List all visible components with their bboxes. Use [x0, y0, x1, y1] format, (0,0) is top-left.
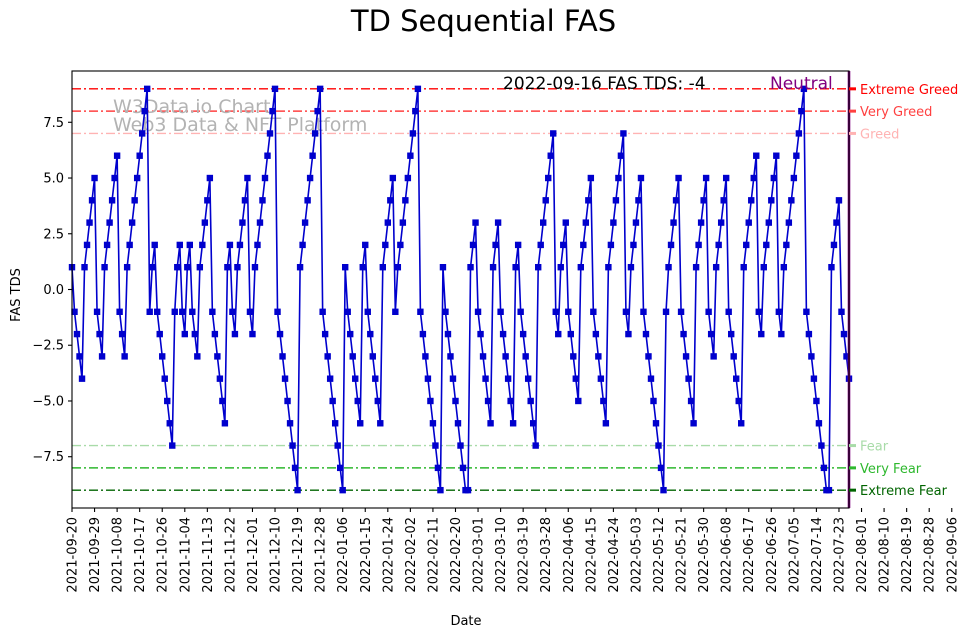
- data-point-marker: [555, 331, 561, 337]
- data-point-marker: [502, 353, 508, 359]
- data-point-marker: [134, 175, 140, 181]
- data-point-marker: [565, 309, 571, 315]
- data-point-marker: [407, 153, 413, 159]
- data-point-marker: [164, 398, 170, 404]
- data-point-marker: [324, 353, 330, 359]
- data-point-marker: [377, 420, 383, 426]
- data-point-marker: [522, 353, 528, 359]
- data-point-marker: [548, 153, 554, 159]
- data-point-marker: [705, 309, 711, 315]
- data-point-marker: [249, 331, 255, 337]
- x-tick-label: 2021-10-08: [111, 517, 126, 593]
- data-point-marker: [748, 197, 754, 203]
- data-point-marker: [603, 420, 609, 426]
- data-point-marker: [791, 175, 797, 181]
- x-tick-label: 2022-02-02: [404, 517, 419, 593]
- data-point-marker: [781, 264, 787, 270]
- data-point-marker: [99, 353, 105, 359]
- data-point-marker: [329, 398, 335, 404]
- data-point-marker: [788, 197, 794, 203]
- x-tick-label: 2021-11-04: [178, 517, 193, 593]
- data-point-marker: [162, 375, 168, 381]
- data-point-marker: [154, 309, 160, 315]
- data-point-marker: [111, 175, 117, 181]
- data-point-marker: [653, 420, 659, 426]
- data-point-marker: [695, 242, 701, 248]
- data-point-marker: [673, 197, 679, 203]
- data-point-marker: [583, 219, 589, 225]
- annotation-group: 2022-09-16 FAS TDS: -4Neutral: [503, 74, 833, 94]
- x-tick-label: 2022-03-10: [494, 517, 509, 593]
- data-point-marker: [157, 331, 163, 337]
- data-point-marker: [618, 153, 624, 159]
- data-point-marker: [700, 197, 706, 203]
- data-point-marker: [783, 242, 789, 248]
- data-point-marker: [219, 398, 225, 404]
- data-point-marker: [340, 487, 346, 493]
- data-point-marker: [312, 130, 318, 136]
- data-point-marker: [588, 175, 594, 181]
- data-point-marker: [119, 331, 125, 337]
- data-point-marker: [808, 353, 814, 359]
- data-point-marker: [743, 242, 749, 248]
- x-tick-label: 2022-08-28: [923, 517, 938, 593]
- data-point-marker: [578, 264, 584, 270]
- data-point-marker: [720, 197, 726, 203]
- data-point-marker: [475, 309, 481, 315]
- x-tick-label: 2022-04-06: [562, 517, 577, 593]
- data-point-marker: [545, 175, 551, 181]
- data-point-marker: [826, 487, 832, 493]
- data-point-marker: [121, 353, 127, 359]
- annotation-status: Neutral: [770, 74, 833, 94]
- data-point-marker: [836, 197, 842, 203]
- data-point-marker: [141, 108, 147, 114]
- data-point-marker: [417, 309, 423, 315]
- data-point-marker: [773, 153, 779, 159]
- data-point-marker: [828, 264, 834, 270]
- data-point-marker: [733, 375, 739, 381]
- data-point-marker: [535, 264, 541, 270]
- data-point-marker: [736, 398, 742, 404]
- data-point-marker: [640, 309, 646, 315]
- data-point-marker: [252, 264, 258, 270]
- x-tick-label: 2022-06-26: [765, 517, 780, 593]
- zone-label-very-greed: Very Greed: [860, 105, 932, 120]
- data-point-marker: [96, 331, 102, 337]
- data-point-marker: [81, 264, 87, 270]
- data-point-marker: [460, 465, 466, 471]
- data-point-marker: [648, 375, 654, 381]
- data-point-marker: [74, 331, 80, 337]
- zone-label-extreme-fear: Extreme Fear: [860, 484, 948, 499]
- data-point-marker: [467, 264, 473, 270]
- data-point-marker: [405, 175, 411, 181]
- data-point-marker: [445, 331, 451, 337]
- data-point-marker: [638, 175, 644, 181]
- data-point-marker: [382, 242, 388, 248]
- data-point-marker: [490, 264, 496, 270]
- data-point-marker: [317, 86, 323, 92]
- data-point-marker: [778, 331, 784, 337]
- data-point-marker: [655, 442, 661, 448]
- data-point-marker: [512, 264, 518, 270]
- chart-canvas: W3Data.io ChartWeb3 Data & NFT Platform …: [0, 0, 967, 633]
- data-point-marker: [222, 420, 228, 426]
- data-point-marker: [833, 219, 839, 225]
- data-point-marker: [232, 331, 238, 337]
- data-point-marker: [470, 242, 476, 248]
- data-point-marker: [244, 175, 250, 181]
- data-point-marker: [202, 219, 208, 225]
- x-tick-label: 2022-05-03: [629, 517, 644, 593]
- data-point-marker: [580, 242, 586, 248]
- data-point-marker: [703, 175, 709, 181]
- data-point-marker: [500, 331, 506, 337]
- data-point-marker: [553, 309, 559, 315]
- data-point-marker: [690, 420, 696, 426]
- data-point-marker: [450, 375, 456, 381]
- data-point-marker: [362, 242, 368, 248]
- data-point-marker: [182, 331, 188, 337]
- x-tick-label: 2022-04-24: [607, 517, 622, 593]
- data-point-marker: [167, 420, 173, 426]
- data-point-marker: [101, 264, 107, 270]
- data-point-marker: [152, 242, 158, 248]
- data-point-marker: [282, 375, 288, 381]
- data-point-marker: [447, 353, 453, 359]
- data-point-marker: [532, 442, 538, 448]
- data-point-marker: [144, 86, 150, 92]
- data-point-marker: [76, 353, 82, 359]
- data-point-marker: [332, 420, 338, 426]
- data-point-marker: [803, 309, 809, 315]
- data-point-marker: [189, 309, 195, 315]
- x-tick-label: 2021-11-13: [201, 517, 216, 593]
- data-point-marker: [771, 175, 777, 181]
- data-point-marker: [254, 242, 260, 248]
- data-point-marker: [633, 219, 639, 225]
- x-tick-label: 2021-09-29: [88, 517, 103, 593]
- data-point-marker: [477, 331, 483, 337]
- data-point-marker: [610, 219, 616, 225]
- data-point-marker: [605, 264, 611, 270]
- data-point-marker: [776, 309, 782, 315]
- data-point-marker: [525, 375, 531, 381]
- watermark-group: W3Data.io ChartWeb3 Data & NFT Platform: [113, 96, 367, 136]
- data-point-marker: [131, 197, 137, 203]
- data-point-marker: [214, 353, 220, 359]
- data-point-marker: [302, 219, 308, 225]
- data-point-marker: [806, 331, 812, 337]
- data-point-marker: [492, 242, 498, 248]
- data-point-marker: [623, 309, 629, 315]
- data-point-marker: [209, 309, 215, 315]
- series-line-fas-tds: [72, 89, 849, 490]
- data-point-marker: [540, 219, 546, 225]
- data-point-marker: [573, 375, 579, 381]
- x-tick-label: 2022-02-11: [426, 517, 441, 593]
- x-tick-label: 2022-07-14: [810, 517, 825, 593]
- data-point-marker: [725, 309, 731, 315]
- data-point-marker: [570, 353, 576, 359]
- data-point-marker: [410, 130, 416, 136]
- data-point-marker: [149, 264, 155, 270]
- data-point-marker: [397, 242, 403, 248]
- data-point-marker: [126, 242, 132, 248]
- x-tick-label: 2022-03-19: [517, 517, 532, 593]
- data-point-marker: [527, 398, 533, 404]
- data-point-marker: [665, 264, 671, 270]
- data-point-marker: [274, 309, 280, 315]
- data-point-marker: [595, 353, 601, 359]
- data-point-marker: [485, 398, 491, 404]
- x-tick-label: 2022-02-20: [449, 517, 464, 593]
- data-point-marker: [455, 420, 461, 426]
- data-point-marker: [457, 442, 463, 448]
- data-point-marker: [139, 130, 145, 136]
- x-tick-label: 2022-01-15: [359, 517, 374, 593]
- data-point-marker: [538, 242, 544, 248]
- data-point-marker: [625, 331, 631, 337]
- data-point-marker: [472, 219, 478, 225]
- data-point-marker: [693, 264, 699, 270]
- data-point-marker: [262, 175, 268, 181]
- x-axis-title: Date: [450, 614, 481, 629]
- data-point-marker: [593, 331, 599, 337]
- data-point-marker: [645, 353, 651, 359]
- data-point-marker: [179, 309, 185, 315]
- y-tick-label: −2.5: [32, 339, 64, 354]
- x-tick-label: 2021-12-19: [291, 517, 306, 593]
- data-point-marker: [334, 442, 340, 448]
- data-point-marker: [480, 353, 486, 359]
- data-point-marker: [395, 264, 401, 270]
- x-tick-label: 2022-01-24: [381, 517, 396, 593]
- data-point-marker: [786, 219, 792, 225]
- data-point-marker: [753, 153, 759, 159]
- data-point-marker: [756, 309, 762, 315]
- data-point-marker: [838, 309, 844, 315]
- data-point-marker: [678, 309, 684, 315]
- x-tick-label: 2022-08-10: [878, 517, 893, 593]
- data-point-marker: [568, 331, 574, 337]
- zone-label-fear: Fear: [860, 440, 889, 455]
- data-point-marker: [766, 219, 772, 225]
- y-tick-label: −7.5: [32, 450, 64, 465]
- data-point-marker: [821, 465, 827, 471]
- x-tick-label: 2022-05-21: [675, 517, 690, 593]
- data-point-marker: [357, 420, 363, 426]
- zone-label-extreme-greed: Extreme Greed: [860, 83, 958, 98]
- data-point-marker: [239, 219, 245, 225]
- zone-label-very-fear: Very Fear: [860, 462, 922, 477]
- data-point-marker: [635, 197, 641, 203]
- data-point-marker: [510, 420, 516, 426]
- data-point-marker: [650, 398, 656, 404]
- data-point-marker: [207, 175, 213, 181]
- data-point-marker: [793, 153, 799, 159]
- data-point-marker: [390, 175, 396, 181]
- threshold-lines-group: [72, 89, 849, 490]
- data-point-marker: [365, 309, 371, 315]
- data-point-marker: [86, 219, 92, 225]
- data-point-marker: [136, 153, 142, 159]
- data-point-marker: [715, 242, 721, 248]
- x-tick-label: 2022-05-30: [697, 517, 712, 593]
- data-point-marker: [680, 331, 686, 337]
- data-point-marker: [675, 175, 681, 181]
- data-point-marker: [259, 197, 265, 203]
- data-point-marker: [685, 375, 691, 381]
- data-point-marker: [234, 264, 240, 270]
- data-point-marker: [731, 353, 737, 359]
- y-axis-title: FAS TDS: [9, 268, 24, 322]
- data-point-marker: [247, 309, 253, 315]
- data-point-marker: [387, 197, 393, 203]
- data-point-marker: [267, 130, 273, 136]
- data-point-marker: [304, 197, 310, 203]
- data-point-marker: [482, 375, 488, 381]
- data-point-marker: [109, 197, 115, 203]
- data-point-marker: [172, 309, 178, 315]
- data-point-marker: [124, 264, 130, 270]
- data-point-marker: [590, 309, 596, 315]
- data-point-marker: [517, 309, 523, 315]
- data-point-marker: [710, 353, 716, 359]
- data-point-marker: [615, 175, 621, 181]
- data-point-marker: [337, 465, 343, 471]
- data-point-marker: [630, 242, 636, 248]
- data-point-marker: [292, 465, 298, 471]
- data-point-marker: [746, 219, 752, 225]
- y-tick-label: 0.0: [43, 283, 64, 298]
- data-point-marker: [237, 242, 243, 248]
- data-point-marker: [560, 242, 566, 248]
- data-point-marker: [229, 309, 235, 315]
- data-point-marker: [515, 242, 521, 248]
- data-point-marker: [174, 264, 180, 270]
- y-tick-label: 5.0: [43, 172, 64, 187]
- data-point-marker: [816, 420, 822, 426]
- data-point-marker: [585, 197, 591, 203]
- data-point-marker: [713, 264, 719, 270]
- data-point-marker: [763, 242, 769, 248]
- data-point-marker: [738, 420, 744, 426]
- x-tick-label: 2022-04-15: [584, 517, 599, 593]
- data-point-marker: [159, 353, 165, 359]
- data-point-marker: [598, 375, 604, 381]
- data-point-marker: [708, 331, 714, 337]
- data-point-marker: [758, 331, 764, 337]
- data-point-marker: [831, 242, 837, 248]
- data-point-marker: [435, 465, 441, 471]
- data-point-marker: [106, 219, 112, 225]
- data-point-marker: [658, 465, 664, 471]
- x-tick-label: 2022-09-06: [945, 517, 960, 593]
- data-point-marker: [813, 398, 819, 404]
- data-point-marker: [442, 309, 448, 315]
- zone-labels: Extreme GreedVery GreedGreedFearVery Fea…: [849, 83, 958, 499]
- data-point-marker: [372, 375, 378, 381]
- data-point-marker: [505, 375, 511, 381]
- data-point-marker: [670, 219, 676, 225]
- data-point-marker: [350, 353, 356, 359]
- data-point-marker: [402, 197, 408, 203]
- data-point-marker: [94, 309, 100, 315]
- data-point-marker: [104, 242, 110, 248]
- data-point-marker: [184, 264, 190, 270]
- data-point-marker: [608, 242, 614, 248]
- data-point-marker: [497, 309, 503, 315]
- data-point-marker: [277, 331, 283, 337]
- data-point-marker: [84, 242, 90, 248]
- y-tick-labels: 7.55.02.50.0−2.5−5.0−7.5: [32, 116, 72, 465]
- data-point-marker: [400, 219, 406, 225]
- data-point-marker: [114, 153, 120, 159]
- data-point-marker: [818, 442, 824, 448]
- x-tick-labels: 2021-09-202021-09-292021-10-082021-10-17…: [66, 508, 967, 593]
- data-point-marker: [811, 375, 817, 381]
- data-point-marker: [718, 219, 724, 225]
- data-point-marker: [798, 108, 804, 114]
- x-tick-label: 2021-10-17: [133, 517, 148, 593]
- data-point-marker: [620, 130, 626, 136]
- data-point-marker: [345, 309, 351, 315]
- data-point-marker: [307, 175, 313, 181]
- data-point-marker: [279, 353, 285, 359]
- data-point-marker: [360, 264, 366, 270]
- data-point-marker: [628, 264, 634, 270]
- data-point-marker: [187, 242, 193, 248]
- y-tick-label: 7.5: [43, 116, 64, 131]
- data-point-marker: [370, 353, 376, 359]
- data-point-marker: [194, 353, 200, 359]
- data-point-marker: [327, 375, 333, 381]
- x-tick-label: 2022-01-06: [336, 517, 351, 593]
- data-point-marker: [425, 375, 431, 381]
- x-tick-label: 2022-07-23: [832, 517, 847, 593]
- data-point-marker: [242, 197, 248, 203]
- data-point-marker: [204, 197, 210, 203]
- y-tick-label: 2.5: [43, 227, 64, 242]
- data-point-marker: [169, 442, 175, 448]
- data-point-marker: [297, 264, 303, 270]
- x-tick-label: 2022-03-01: [472, 517, 487, 593]
- data-point-marker: [530, 420, 536, 426]
- x-tick-label: 2021-12-28: [314, 517, 329, 593]
- x-tick-label: 2022-08-19: [900, 517, 915, 593]
- x-tick-label: 2021-12-01: [246, 517, 261, 593]
- data-series-group: [69, 71, 852, 508]
- data-point-marker: [89, 197, 95, 203]
- data-point-marker: [663, 309, 669, 315]
- data-point-marker: [543, 197, 549, 203]
- data-point-marker: [430, 420, 436, 426]
- annotation-reading: 2022-09-16 FAS TDS: -4: [503, 74, 706, 94]
- data-point-marker: [212, 331, 218, 337]
- data-point-marker: [299, 242, 305, 248]
- data-point-marker: [600, 398, 606, 404]
- data-point-marker: [197, 264, 203, 270]
- data-point-marker: [347, 331, 353, 337]
- x-tick-label: 2022-07-05: [787, 517, 802, 593]
- x-tick-label: 2022-05-12: [652, 517, 667, 593]
- data-point-marker: [643, 331, 649, 337]
- data-point-marker: [257, 219, 263, 225]
- data-point-marker: [217, 375, 223, 381]
- data-point-marker: [761, 264, 767, 270]
